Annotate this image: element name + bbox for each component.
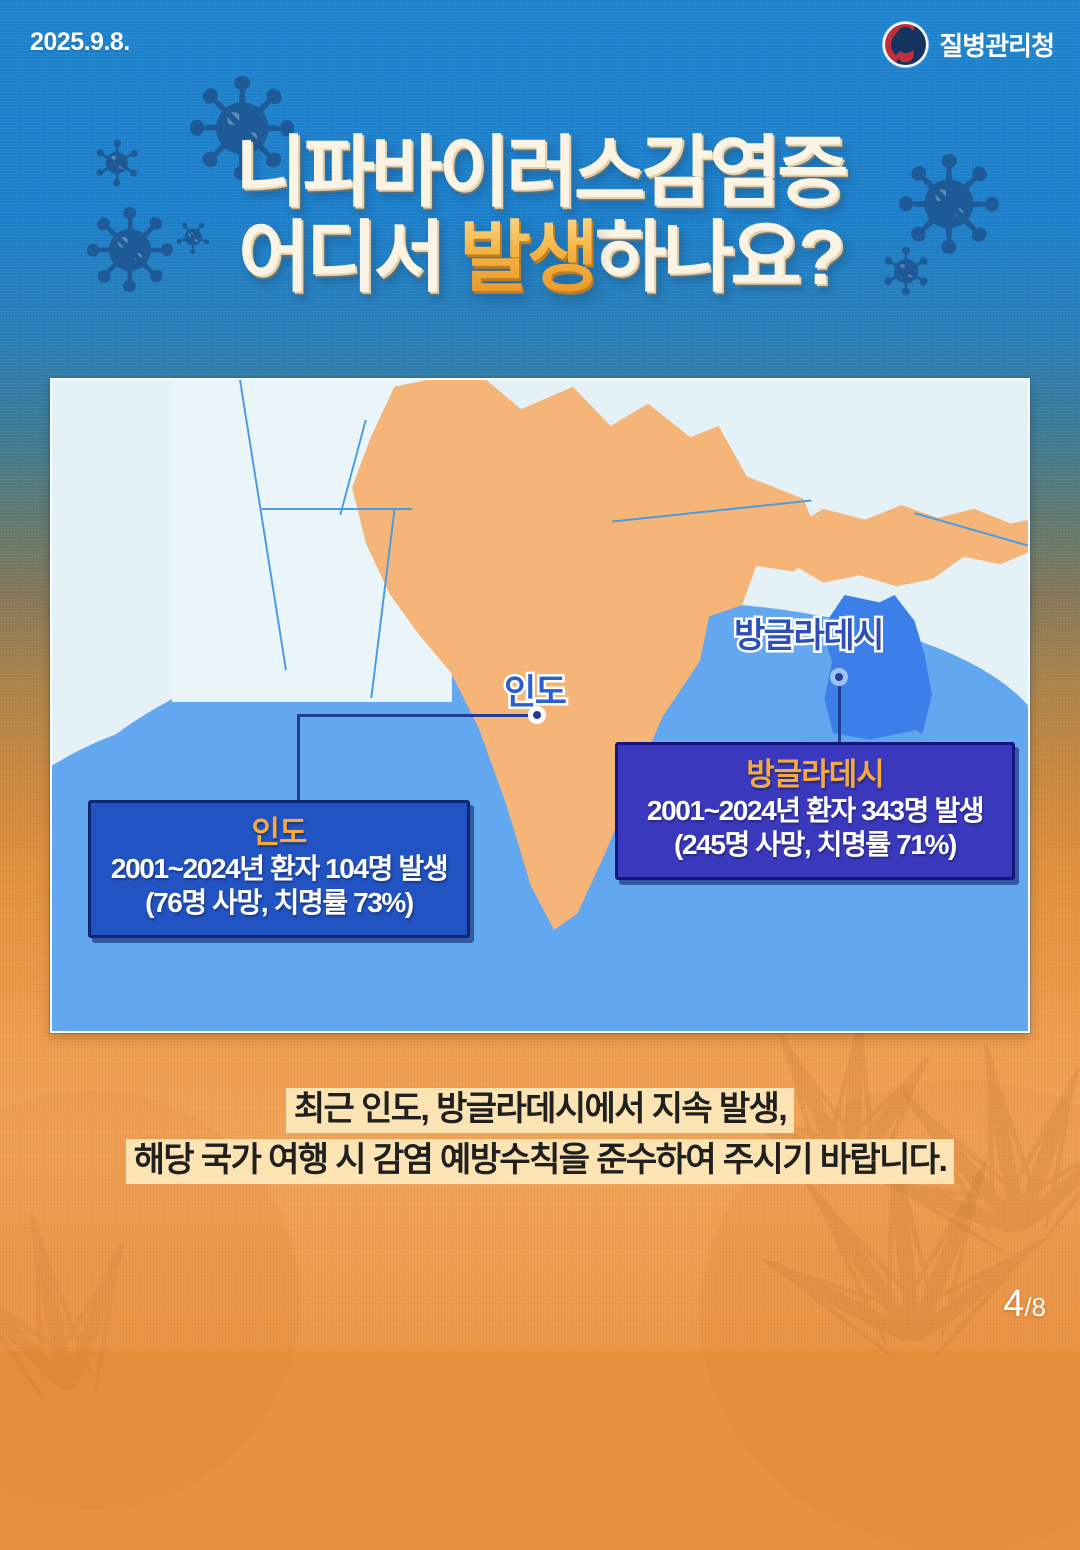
india-callout-box: 인도 2001~2024년 환자 104명 발생 (76명 사망, 치명률 73… bbox=[88, 800, 470, 938]
bottom-message-line-1: 최근 인도, 방글라데시에서 지속 발생, bbox=[286, 1088, 794, 1133]
india-callout-line-2: (76명 사망, 치명률 73%) bbox=[105, 886, 453, 921]
title-line-1: 니파바이러스감염증 bbox=[0, 133, 1080, 211]
page-title: 니파바이러스감염증 어디서 발생하나요? bbox=[0, 133, 1080, 296]
taeguk-logo-icon bbox=[883, 22, 928, 67]
title-highlight: 발생 bbox=[459, 213, 595, 301]
title-line-2-after: 하나요? bbox=[595, 213, 842, 301]
bangladesh-callout-line-1: 2001~2024년 환자 343명 발생 bbox=[632, 794, 998, 829]
india-callout-line-1: 2001~2024년 환자 104명 발생 bbox=[105, 852, 453, 887]
bangladesh-callout-heading: 방글라데시 bbox=[632, 757, 998, 794]
bottom-message: 최근 인도, 방글라데시에서 지속 발생, 해당 국가 여행 시 감염 예방수칙… bbox=[0, 1085, 1080, 1187]
publication-date: 2025.9.8. bbox=[30, 28, 130, 57]
country-border-line bbox=[262, 508, 412, 510]
agency-name: 질병관리청 bbox=[939, 26, 1054, 63]
bangladesh-pin-label: 방글라데시 bbox=[734, 608, 883, 657]
bangladesh-callout-box: 방글라데시 2001~2024년 환자 343명 발생 (245명 사망, 치명… bbox=[615, 742, 1015, 880]
bangladesh-connector-dot bbox=[830, 668, 848, 686]
bottom-message-line-2: 해당 국가 여행 시 감염 예방수칙을 준수하여 주시기 바랍니다. bbox=[126, 1139, 955, 1184]
india-pin[interactable] bbox=[546, 588, 608, 650]
kdca-logo: 질병관리청 bbox=[883, 22, 1054, 67]
bangladesh-pin[interactable] bbox=[810, 530, 874, 594]
bangladesh-callout-line-2: (245명 사망, 치명률 71%) bbox=[632, 828, 998, 863]
page-current: 4 bbox=[1003, 1283, 1024, 1326]
title-line-2: 어디서 발생하나요? bbox=[0, 218, 1080, 296]
page-total: /8 bbox=[1024, 1292, 1046, 1323]
india-callout-heading: 인도 bbox=[105, 815, 453, 852]
india-connector-vertical bbox=[297, 716, 300, 806]
title-line-2-before: 어디서 bbox=[238, 213, 459, 301]
india-connector-horizontal bbox=[297, 714, 537, 717]
india-connector-dot bbox=[528, 706, 546, 724]
page-indicator: 4 /8 bbox=[1003, 1283, 1046, 1326]
